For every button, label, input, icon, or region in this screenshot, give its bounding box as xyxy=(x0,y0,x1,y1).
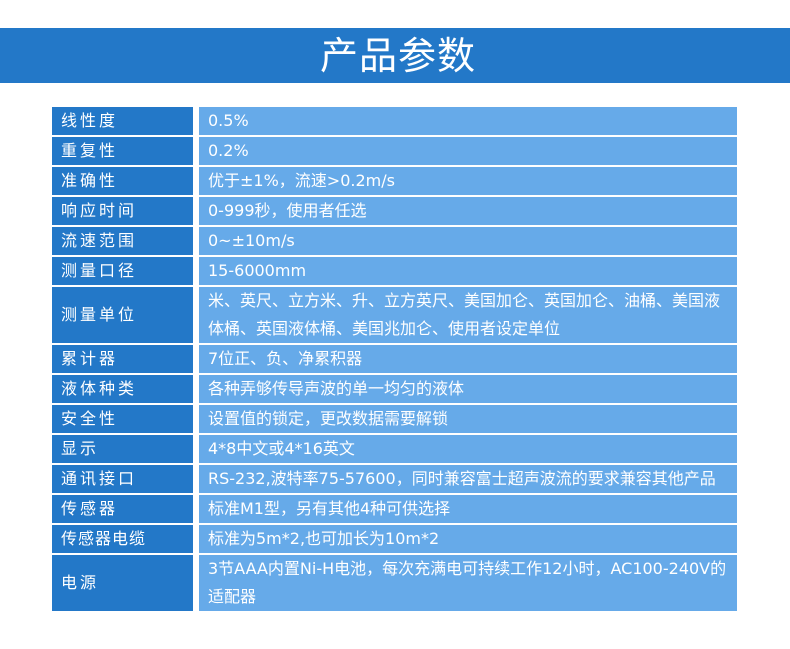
spec-value: 0~±10m/s xyxy=(199,227,737,255)
spec-value: 15-6000mm xyxy=(199,257,737,285)
spec-label: 准确性 xyxy=(52,167,193,195)
spec-label: 线性度 xyxy=(52,107,193,135)
table-row: 准确性优于±1%，流速>0.2m/s xyxy=(52,167,737,195)
spec-value: RS-232,波特率75-57600，同时兼容富士超声波流的要求兼容其他产品 xyxy=(199,465,737,493)
table-row: 液体种类各种弄够传导声波的单一均匀的液体 xyxy=(52,375,737,403)
table-row: 累计器7位正、负、净累积器 xyxy=(52,345,737,373)
spec-value: 0.5% xyxy=(199,107,737,135)
spec-label: 重复性 xyxy=(52,137,193,165)
spec-value: 7位正、负、净累积器 xyxy=(199,345,737,373)
table-row: 测量单位米、英尺、立方米、升、立方英尺、美国加仑、英国加仑、油桶、美国液体桶、英… xyxy=(52,287,737,343)
product-spec-page: 产品参数 线性度0.5%重复性0.2%准确性优于±1%，流速>0.2m/s响应时… xyxy=(0,0,790,649)
spec-value: 4*8中文或4*16英文 xyxy=(199,435,737,463)
spec-value: 标准M1型，另有其他4种可供选择 xyxy=(199,495,737,523)
spec-label: 显示 xyxy=(52,435,193,463)
table-row: 安全性设置值的锁定，更改数据需要解锁 xyxy=(52,405,737,433)
spec-label: 传感器 xyxy=(52,495,193,523)
spec-value: 设置值的锁定，更改数据需要解锁 xyxy=(199,405,737,433)
spec-label: 响应时间 xyxy=(52,197,193,225)
table-row: 重复性0.2% xyxy=(52,137,737,165)
spec-label: 液体种类 xyxy=(52,375,193,403)
page-title: 产品参数 xyxy=(320,37,476,75)
page-header-band: 产品参数 xyxy=(0,28,790,83)
spec-value: 各种弄够传导声波的单一均匀的液体 xyxy=(199,375,737,403)
spec-label: 测量口径 xyxy=(52,257,193,285)
table-row: 线性度0.5% xyxy=(52,107,737,135)
spec-label: 流速范围 xyxy=(52,227,193,255)
table-row: 电源3节AAA内置Ni-H电池，每次充满电可持续工作12小时，AC100-240… xyxy=(52,555,737,611)
table-row: 显示4*8中文或4*16英文 xyxy=(52,435,737,463)
spec-value: 0.2% xyxy=(199,137,737,165)
table-row: 通讯接口RS-232,波特率75-57600，同时兼容富士超声波流的要求兼容其他… xyxy=(52,465,737,493)
spec-label: 传感器电缆 xyxy=(52,525,193,553)
spec-label: 累计器 xyxy=(52,345,193,373)
spec-label: 安全性 xyxy=(52,405,193,433)
table-row: 传感器电缆标准为5m*2,也可加长为10m*2 xyxy=(52,525,737,553)
spec-label: 电源 xyxy=(52,555,193,611)
table-row: 测量口径15-6000mm xyxy=(52,257,737,285)
spec-value: 标准为5m*2,也可加长为10m*2 xyxy=(199,525,737,553)
spec-value: 3节AAA内置Ni-H电池，每次充满电可持续工作12小时，AC100-240V的… xyxy=(199,555,737,611)
spec-value: 0-999秒，使用者任选 xyxy=(199,197,737,225)
spec-value: 米、英尺、立方米、升、立方英尺、美国加仑、英国加仑、油桶、美国液体桶、英国液体桶… xyxy=(199,287,737,343)
spec-label: 通讯接口 xyxy=(52,465,193,493)
table-row: 响应时间0-999秒，使用者任选 xyxy=(52,197,737,225)
table-row: 传感器标准M1型，另有其他4种可供选择 xyxy=(52,495,737,523)
spec-label: 测量单位 xyxy=(52,287,193,343)
table-row: 流速范围0~±10m/s xyxy=(52,227,737,255)
specifications-table: 线性度0.5%重复性0.2%准确性优于±1%，流速>0.2m/s响应时间0-99… xyxy=(52,107,737,611)
spec-value: 优于±1%，流速>0.2m/s xyxy=(199,167,737,195)
